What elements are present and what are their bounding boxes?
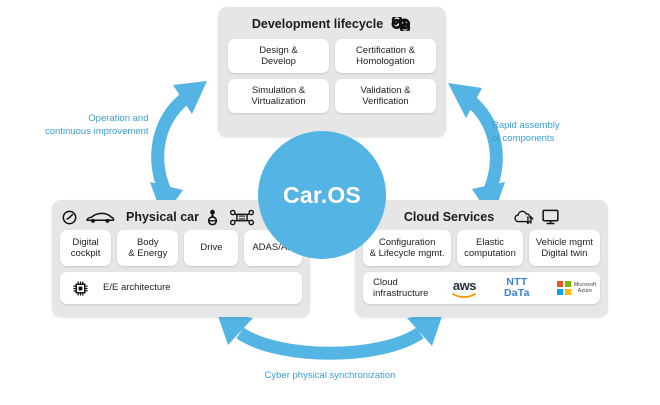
- cloud-item-elastic-computation[interactable]: Elasticcomputation: [457, 230, 523, 266]
- arrow-left-caption-line2: continuous improvement: [45, 126, 149, 139]
- panel-cloud-services: Cloud Services Configuration& Lifecycle …: [355, 200, 608, 317]
- arrow-right: [448, 83, 505, 219]
- cloud-infrastructure-row: Cloudinfrastructure aws NTT DaTa: [355, 272, 608, 304]
- cloud-infrastructure-card[interactable]: Cloudinfrastructure aws NTT DaTa: [363, 272, 600, 304]
- arrow-left-caption: Operation and continuous improvement: [45, 113, 149, 138]
- physical-car-title: Physical car: [126, 210, 199, 224]
- cloud-infrastructure-label: Cloudinfrastructure: [373, 277, 446, 300]
- ee-architecture-card[interactable]: E/E architecture: [60, 272, 302, 304]
- connected-car-icon: [227, 209, 257, 226]
- microchip-icon: [72, 280, 89, 297]
- cloud-item-configuration-lifecycle-mgmt[interactable]: Configuration& Lifecycle mgmt.: [363, 230, 451, 266]
- diagram-canvas: Car.OS Development lifecycle Design &Dev…: [0, 0, 660, 405]
- ntt-data-logo: NTT DaTa: [492, 277, 541, 300]
- ee-architecture-row: E/E architecture: [52, 272, 310, 304]
- ee-architecture-label: E/E architecture: [103, 282, 171, 294]
- arrow-right-caption-line1: Rapid assembly: [492, 120, 560, 133]
- arrow-bottom-caption: Cyber physical synchronization: [208, 370, 452, 383]
- person-icon: [199, 209, 227, 226]
- cloud-sync-icon: [513, 209, 535, 225]
- azure-logo-line2: Azure: [574, 288, 596, 294]
- cloud-item-label: Configuration& Lifecycle mgmt.: [370, 237, 445, 260]
- aws-logo-text: aws: [453, 279, 476, 292]
- cloud-item-vehicle-mgmt-digital-twin[interactable]: Vehicle mgmtDigital twin: [529, 230, 600, 266]
- arrow-left: [150, 81, 207, 218]
- physical-item-label: Body& Energy: [128, 237, 167, 260]
- center-hub-label: Car.OS: [283, 182, 361, 209]
- physical-item-body-energy[interactable]: Body& Energy: [117, 230, 178, 266]
- infinity-icon: [390, 17, 412, 31]
- cloud-provider-logos: aws NTT DaTa Microsoft Azure: [452, 277, 596, 300]
- center-hub: Car.OS: [258, 131, 386, 259]
- lifecycle-item-label: Certification &Homologation: [356, 45, 415, 68]
- lifecycle-item-certification-homologation[interactable]: Certification &Homologation: [335, 39, 436, 73]
- physical-car-items: Digitalcockpit Body& Energy Drive ADAS/A…: [52, 230, 310, 266]
- aws-logo: aws: [452, 279, 476, 298]
- arrow-bottom: [217, 313, 443, 353]
- physical-item-label: Drive: [200, 242, 222, 254]
- arrow-right-caption: Rapid assembly of components: [492, 120, 560, 145]
- lifecycle-items: Design &Develop Certification &Homologat…: [218, 39, 446, 113]
- physical-item-drive[interactable]: Drive: [184, 230, 238, 266]
- microsoft-azure-logo: Microsoft Azure: [557, 281, 596, 295]
- lifecycle-item-validation-verification[interactable]: Validation &Verification: [335, 79, 436, 113]
- lifecycle-title: Development lifecycle: [252, 17, 383, 31]
- car-icon: [78, 211, 122, 224]
- physical-item-digital-cockpit[interactable]: Digitalcockpit: [60, 230, 111, 266]
- lifecycle-item-label: Design &Develop: [259, 45, 298, 68]
- lifecycle-header: Development lifecycle: [218, 7, 446, 37]
- cloud-item-label: Vehicle mgmtDigital twin: [536, 237, 593, 260]
- cloud-item-label: Elasticcomputation: [464, 237, 516, 260]
- lifecycle-item-design-develop[interactable]: Design &Develop: [228, 39, 329, 73]
- physical-item-label: Digitalcockpit: [71, 237, 101, 260]
- monitor-icon: [542, 209, 559, 225]
- cloud-services-title: Cloud Services: [404, 210, 494, 224]
- cloud-services-header: Cloud Services: [355, 200, 608, 230]
- arrow-right-caption-line2: of components: [492, 133, 560, 146]
- arrow-left-caption-line1: Operation and: [45, 113, 149, 126]
- lifecycle-item-simulation-virtualization[interactable]: Simulation &Virtualization: [228, 79, 329, 113]
- lifecycle-item-label: Simulation &Virtualization: [251, 85, 305, 108]
- panel-development-lifecycle: Development lifecycle Design &Develop Ce…: [218, 7, 446, 137]
- microsoft-squares-icon: [557, 281, 571, 295]
- speedometer-icon: [60, 210, 78, 225]
- cloud-services-items: Configuration& Lifecycle mgmt. Elasticco…: [355, 230, 608, 266]
- lifecycle-item-label: Validation &Verification: [361, 85, 411, 108]
